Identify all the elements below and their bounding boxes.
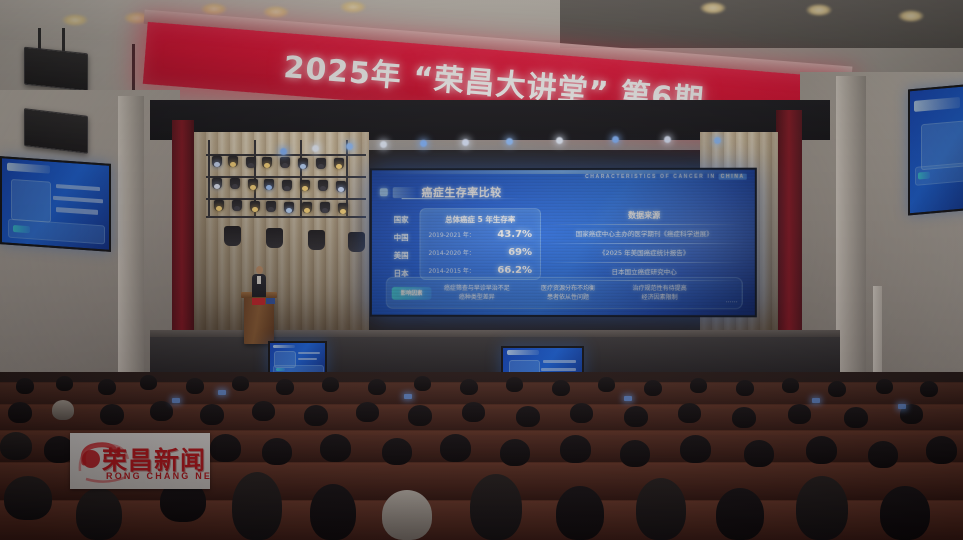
factor-column: 癌症筛查与早诊早治不足 癌种类型差异 [431, 284, 522, 303]
source-item: 国家癌症中心主办的医学期刊《癌症科学进展》 [549, 228, 740, 238]
country-label-column: 国家 中国 美国 日本 [394, 214, 409, 279]
audience-head [252, 401, 275, 421]
truss-bar [206, 216, 366, 218]
slide-eyebrow-prefix: CHARACTERISTICS OF CANCER IN [585, 174, 719, 180]
audience-head [516, 406, 540, 427]
audience-head [276, 379, 294, 395]
phone-screen-glow [624, 396, 632, 401]
podium-laptop [266, 298, 275, 304]
audience-head [382, 438, 412, 465]
audience-head [624, 406, 648, 427]
audience-head [470, 474, 522, 540]
audience-head [636, 478, 686, 540]
stage-lamp-icon [334, 158, 344, 169]
phone-screen-glow [812, 398, 820, 403]
presenter-shirt [257, 276, 261, 284]
audience-head [598, 377, 615, 392]
par-can-icon [308, 230, 325, 250]
factor-column: 治疗规范性有待提高 经济因素限制 [614, 284, 706, 303]
audience-head [0, 432, 32, 460]
moving-head-spot [280, 148, 287, 155]
downlight-icon [806, 4, 832, 16]
audience-head [408, 405, 432, 426]
source-item: 《2025 年美国癌症统计报告》 [549, 247, 740, 257]
audience-head [460, 379, 478, 395]
stage-lamp-icon [250, 201, 260, 212]
stage-lamp-icon [318, 180, 328, 191]
stage-lamp-icon [320, 202, 330, 213]
truss-bar [206, 198, 366, 200]
audience-head [556, 486, 604, 540]
lighting-truss [206, 140, 366, 240]
audience-head [414, 376, 431, 391]
factors-badge: 影响因素 [392, 286, 432, 299]
monitor-slide-card [11, 179, 52, 222]
audience-head [788, 404, 811, 424]
audience-head [140, 375, 157, 390]
audience-head [320, 434, 351, 462]
audience-head [210, 434, 241, 462]
audience-head [462, 402, 485, 422]
ceiling-speaker [24, 47, 88, 92]
table-row: 2014-2015 年： 66.2% [428, 265, 532, 276]
broadcast-frame: 2025年 “荣昌大讲堂” 第6期 [0, 0, 963, 540]
stage-lamp-icon [212, 178, 222, 189]
par-can-icon [266, 228, 283, 248]
factor-item: 患者依从性问题 [522, 293, 613, 302]
wall-pillar [836, 76, 866, 406]
audience-head [644, 380, 662, 396]
news-logo-english: RONG CHANG NEWS [106, 471, 210, 481]
rate-value: 43.7% [497, 229, 532, 240]
stage-lamp-icon [266, 201, 276, 212]
audience-head [782, 378, 799, 393]
table-row: 2014-2020 年： 69% [428, 247, 532, 258]
audience-head [926, 436, 957, 464]
downlight-icon [62, 14, 88, 26]
audience-head [232, 472, 282, 540]
audience-head [440, 434, 471, 462]
audience-head [382, 490, 432, 540]
stage-lamp-icon [336, 181, 346, 192]
data-source-header: 数据来源 [569, 210, 720, 221]
wall-monitor-right[interactable] [908, 83, 963, 216]
factor-item: 经济因素限制 [614, 293, 706, 302]
factor-column: 医疗资源分布不均衡 患者依从性问题 [522, 284, 613, 303]
influencing-factors-bar: 影响因素 癌症筛查与早诊早治不足 癌种类型差异 医疗资源分布不均衡 患者依从性问… [386, 277, 743, 309]
phone-screen-glow [404, 394, 412, 399]
table-row: 2019-2021 年： 43.7% [428, 229, 532, 240]
moving-head-spot [506, 138, 513, 145]
source-divider [547, 262, 744, 263]
survival-rate-header: 总体癌症 5 年生存率 [421, 214, 541, 225]
slide-eyebrow: CHARACTERISTICS OF CANCER IN CHINA [585, 174, 747, 180]
stage-lamp-icon [230, 178, 240, 189]
audience-head [920, 381, 938, 397]
phone-screen-glow [898, 404, 906, 409]
audience-head [500, 439, 530, 466]
period-label: 2014-2020 年： [428, 248, 474, 257]
stage-lamp-icon [298, 158, 308, 169]
audience-head [356, 402, 379, 422]
audience-head [560, 435, 591, 463]
audience-head [620, 440, 650, 467]
title-underline [402, 198, 521, 199]
audience-head [16, 378, 34, 394]
moving-head-spot [420, 140, 427, 147]
monitor-badge [276, 368, 285, 371]
audience-head [806, 436, 837, 464]
audience-head [796, 476, 848, 540]
podium-placard-red [252, 298, 265, 305]
factor-item: 治疗规范性有待提高 [614, 284, 706, 293]
audience-head [304, 405, 328, 426]
stage-lamp-icon [302, 202, 312, 213]
factors-ellipsis: …… [705, 298, 741, 304]
truss-bar [208, 140, 210, 218]
speaker-hanger-rod [62, 28, 65, 52]
slide-eyebrow-highlight: CHINA [719, 174, 747, 180]
wall-monitor-left[interactable] [0, 156, 111, 252]
par-can-icon [224, 226, 241, 246]
monitor-slide-title [507, 350, 539, 354]
audience-head [880, 486, 930, 540]
source-divider [547, 243, 744, 244]
wall-pillar [118, 96, 144, 396]
bullet-square-icon [380, 188, 388, 196]
audience-head [844, 407, 868, 428]
source-item: 日本国立癌症研究中心 [549, 266, 740, 276]
audience-head [76, 488, 122, 540]
factor-item: 癌症筛查与早诊早治不足 [431, 284, 522, 293]
audience-head [828, 381, 846, 397]
stage-lamp-icon [232, 200, 242, 211]
monitor-badge [13, 225, 30, 234]
audience-head [186, 378, 204, 394]
audience-head [56, 376, 73, 391]
news-logo: 荣昌新闻 RONG CHANG NEWS [70, 433, 210, 489]
audience-head [100, 404, 124, 425]
audience-head [690, 378, 707, 393]
moving-head-spot [346, 143, 353, 150]
audience-head [716, 488, 764, 540]
monitor-slide-line [298, 352, 320, 354]
audience-head [8, 402, 32, 423]
monitor-badge [918, 171, 930, 180]
audience-head [310, 484, 356, 540]
period-label: 2019-2021 年： [428, 230, 474, 239]
period-label: 2014-2015 年： [428, 266, 474, 275]
monitor-slide-line [298, 358, 318, 360]
moving-head-spot [612, 136, 619, 143]
audience-head [876, 379, 893, 394]
moving-head-spot [714, 137, 721, 144]
audience-head [506, 377, 523, 392]
audience-head [868, 441, 898, 468]
moving-head-spot [664, 136, 671, 143]
audience-head [552, 380, 570, 396]
audience-head [98, 379, 116, 395]
audience-head [200, 404, 224, 425]
downlight-icon [700, 2, 726, 14]
factor-item: 医疗资源分布不均衡 [522, 284, 613, 293]
stage-lamp-icon [338, 203, 348, 214]
audience-head [680, 435, 711, 463]
rate-value: 69% [508, 247, 532, 258]
stage-lamp-icon [282, 180, 292, 191]
stage-lamp-icon [262, 157, 272, 168]
country-label: 美国 [394, 250, 409, 261]
moving-head-spot [380, 141, 387, 148]
audience-head [732, 407, 756, 428]
stage-lamp-icon [300, 180, 310, 191]
audience-head [678, 403, 701, 423]
factor-item: 癌种类型差异 [431, 293, 522, 302]
stage-lamp-icon [214, 200, 224, 211]
audience-head [52, 400, 74, 420]
audience-head [736, 380, 754, 396]
audience-head [262, 438, 292, 465]
country-header: 国家 [394, 214, 409, 225]
audience-head [570, 403, 593, 423]
stage-lamp-icon [264, 179, 274, 190]
par-can-icon [348, 232, 365, 252]
audience-head [322, 377, 339, 392]
presenter-head [256, 266, 263, 274]
moving-head-spot [312, 145, 319, 152]
source-divider [547, 224, 744, 225]
audience-head [4, 476, 52, 520]
proscenium-drape-left [172, 120, 194, 345]
ceiling-speaker [24, 108, 88, 154]
downlight-icon [898, 10, 924, 22]
moving-head-spot [462, 139, 469, 146]
phone-screen-glow [218, 390, 226, 395]
stage-lamp-icon [246, 157, 256, 168]
title-tab-accent [393, 187, 417, 198]
monitor-slide-line [541, 368, 576, 370]
moving-head-spot [556, 137, 563, 144]
stage-lamp-icon [228, 156, 238, 167]
monitor-slide-title [273, 345, 295, 348]
phone-screen-glow [172, 398, 180, 403]
audience-head [744, 440, 774, 467]
stage-lamp-icon [316, 158, 326, 169]
stage-lamp-icon [248, 179, 258, 190]
audience-head [232, 376, 249, 391]
stage-lamp-icon [284, 202, 294, 213]
audience-head [150, 401, 173, 421]
proscenium-drape-right [776, 110, 802, 350]
survival-rate-card: 总体癌症 5 年生存率 2019-2021 年： 43.7% 2014-2020… [420, 208, 542, 280]
audience-head [368, 379, 386, 395]
main-presentation-screen[interactable]: CHARACTERISTICS OF CANCER IN CHINA 癌症生存率… [370, 168, 757, 318]
stage-lamp-icon [212, 156, 222, 167]
stage-lamp-icon [280, 157, 290, 168]
rate-value: 66.2% [497, 265, 532, 276]
country-label: 中国 [394, 232, 409, 243]
monitor-slide-line [543, 360, 576, 362]
